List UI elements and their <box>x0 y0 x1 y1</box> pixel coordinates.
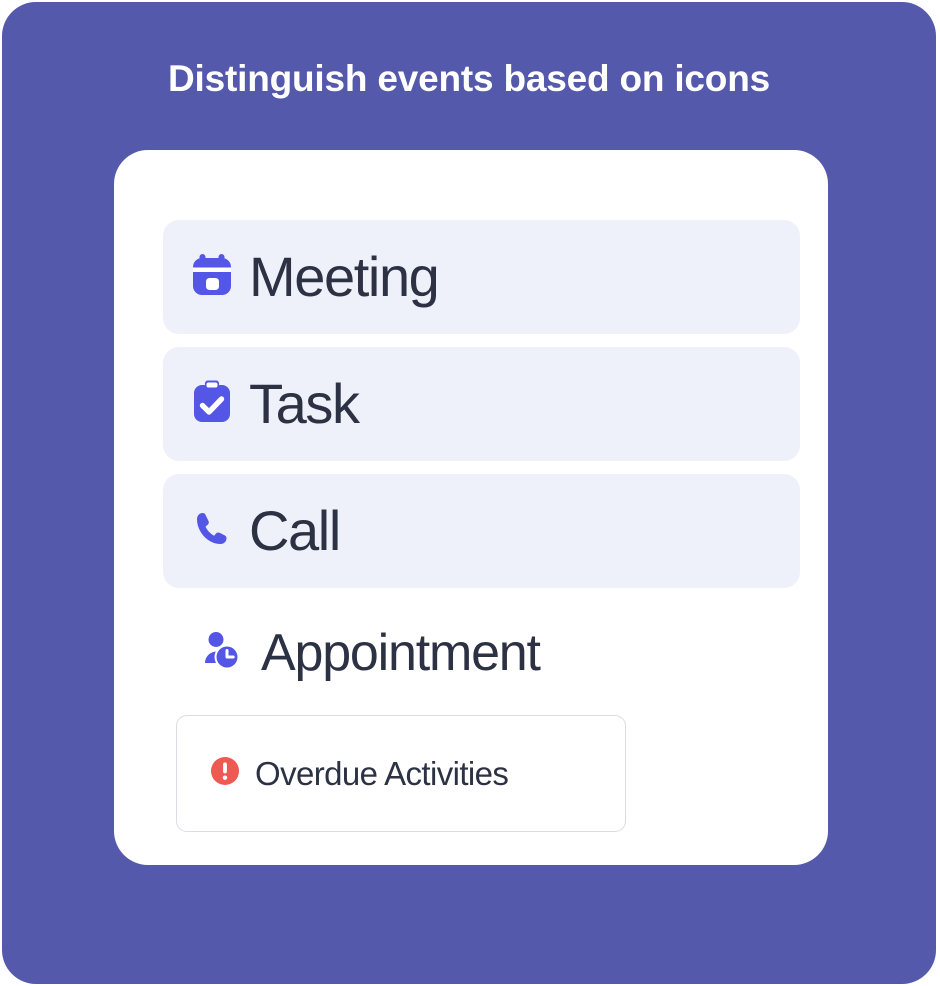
overdue-activities-label: Overdue Activities <box>255 757 508 790</box>
event-label-meeting: Meeting <box>249 249 438 305</box>
phone-icon <box>189 506 235 557</box>
promo-panel: Distinguish events based on icons Meetin… <box>2 2 936 984</box>
clipboard-check-icon <box>189 379 235 430</box>
event-list: Meeting Task <box>163 220 800 705</box>
event-label-task: Task <box>249 376 359 432</box>
alert-circle-icon <box>209 755 241 792</box>
calendar-icon <box>189 252 235 303</box>
user-clock-icon <box>197 627 245 680</box>
event-row-call[interactable]: Call <box>163 474 800 588</box>
event-row-meeting[interactable]: Meeting <box>163 220 800 334</box>
event-label-appointment: Appointment <box>261 627 540 679</box>
page-title: Distinguish events based on icons <box>2 59 936 100</box>
events-card: Meeting Task <box>114 150 828 865</box>
overdue-activities-button[interactable]: Overdue Activities <box>176 715 626 832</box>
event-label-call: Call <box>249 503 340 559</box>
event-row-appointment[interactable]: Appointment <box>163 601 800 705</box>
event-row-task[interactable]: Task <box>163 347 800 461</box>
